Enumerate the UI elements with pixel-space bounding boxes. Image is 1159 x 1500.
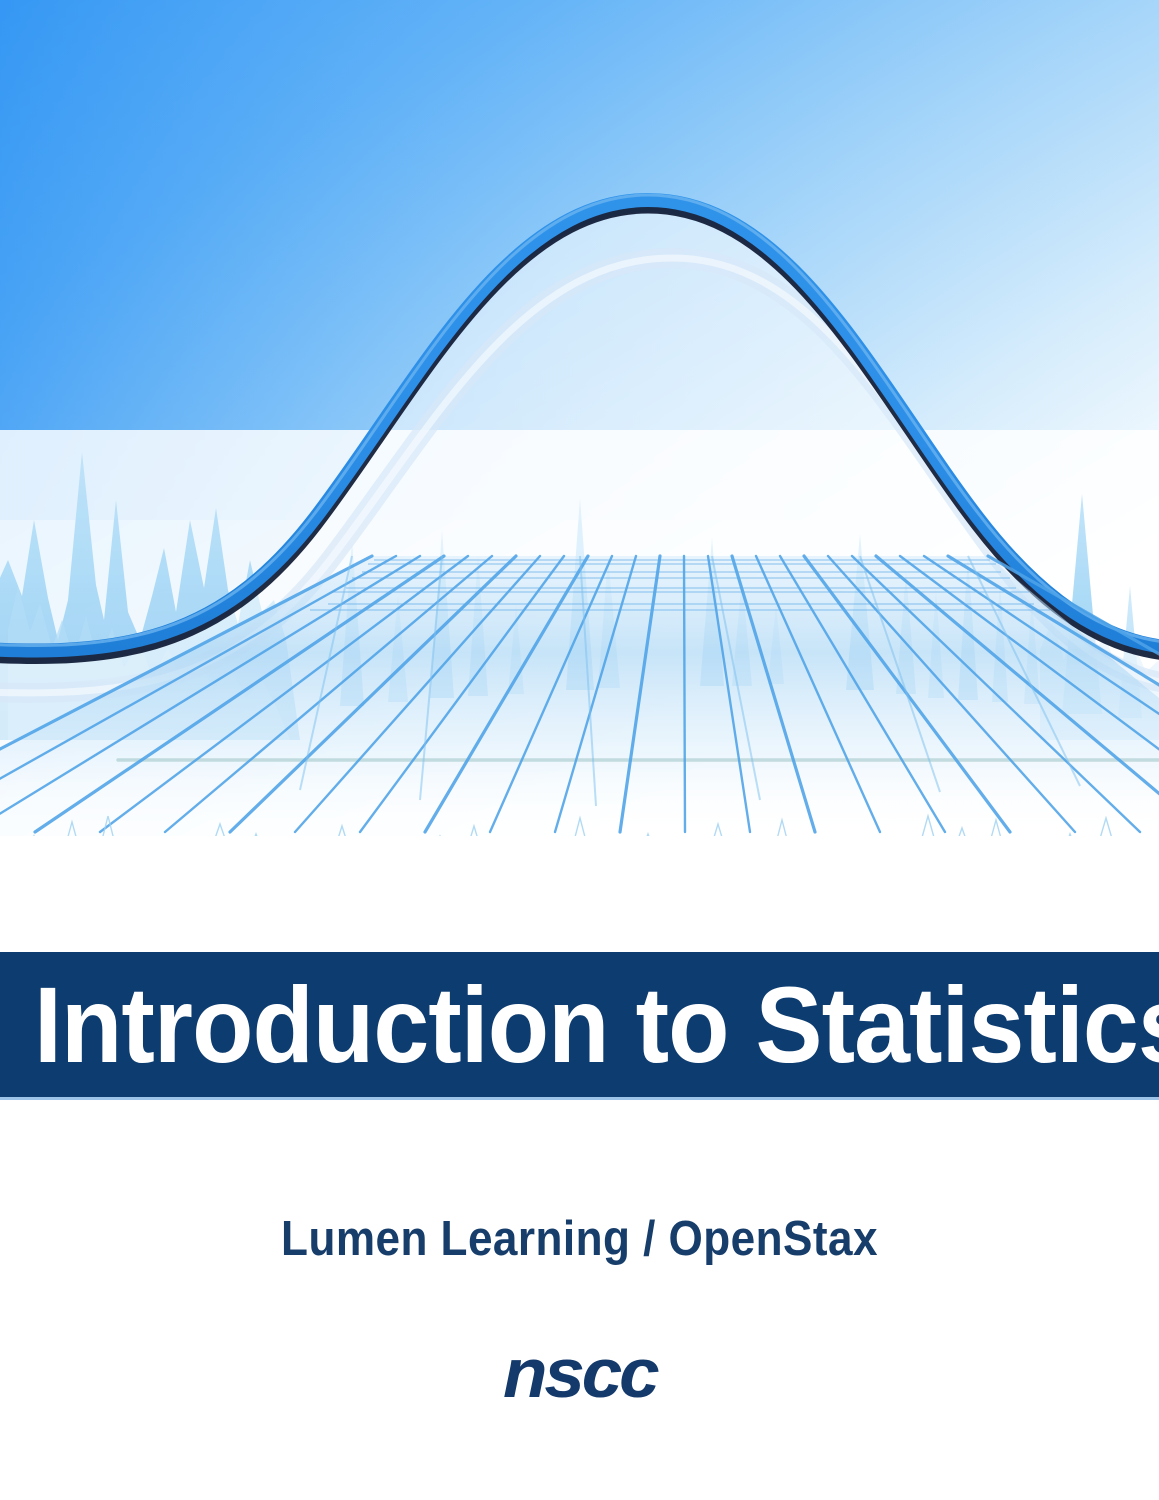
artwork-bottom-fade xyxy=(0,836,1159,900)
cover-artwork xyxy=(0,0,1159,900)
artwork-svg xyxy=(0,0,1159,900)
publisher-logo: nscc xyxy=(0,1336,1159,1410)
nscc-logo-text: nscc xyxy=(503,1336,656,1410)
page-title: Introduction to Statistics xyxy=(34,971,1159,1079)
book-cover: Introduction to Statistics Lumen Learnin… xyxy=(0,0,1159,1500)
cover-subtitle-authors: Lumen Learning / OpenStax xyxy=(58,1210,1101,1268)
title-band: Introduction to Statistics xyxy=(0,952,1159,1100)
